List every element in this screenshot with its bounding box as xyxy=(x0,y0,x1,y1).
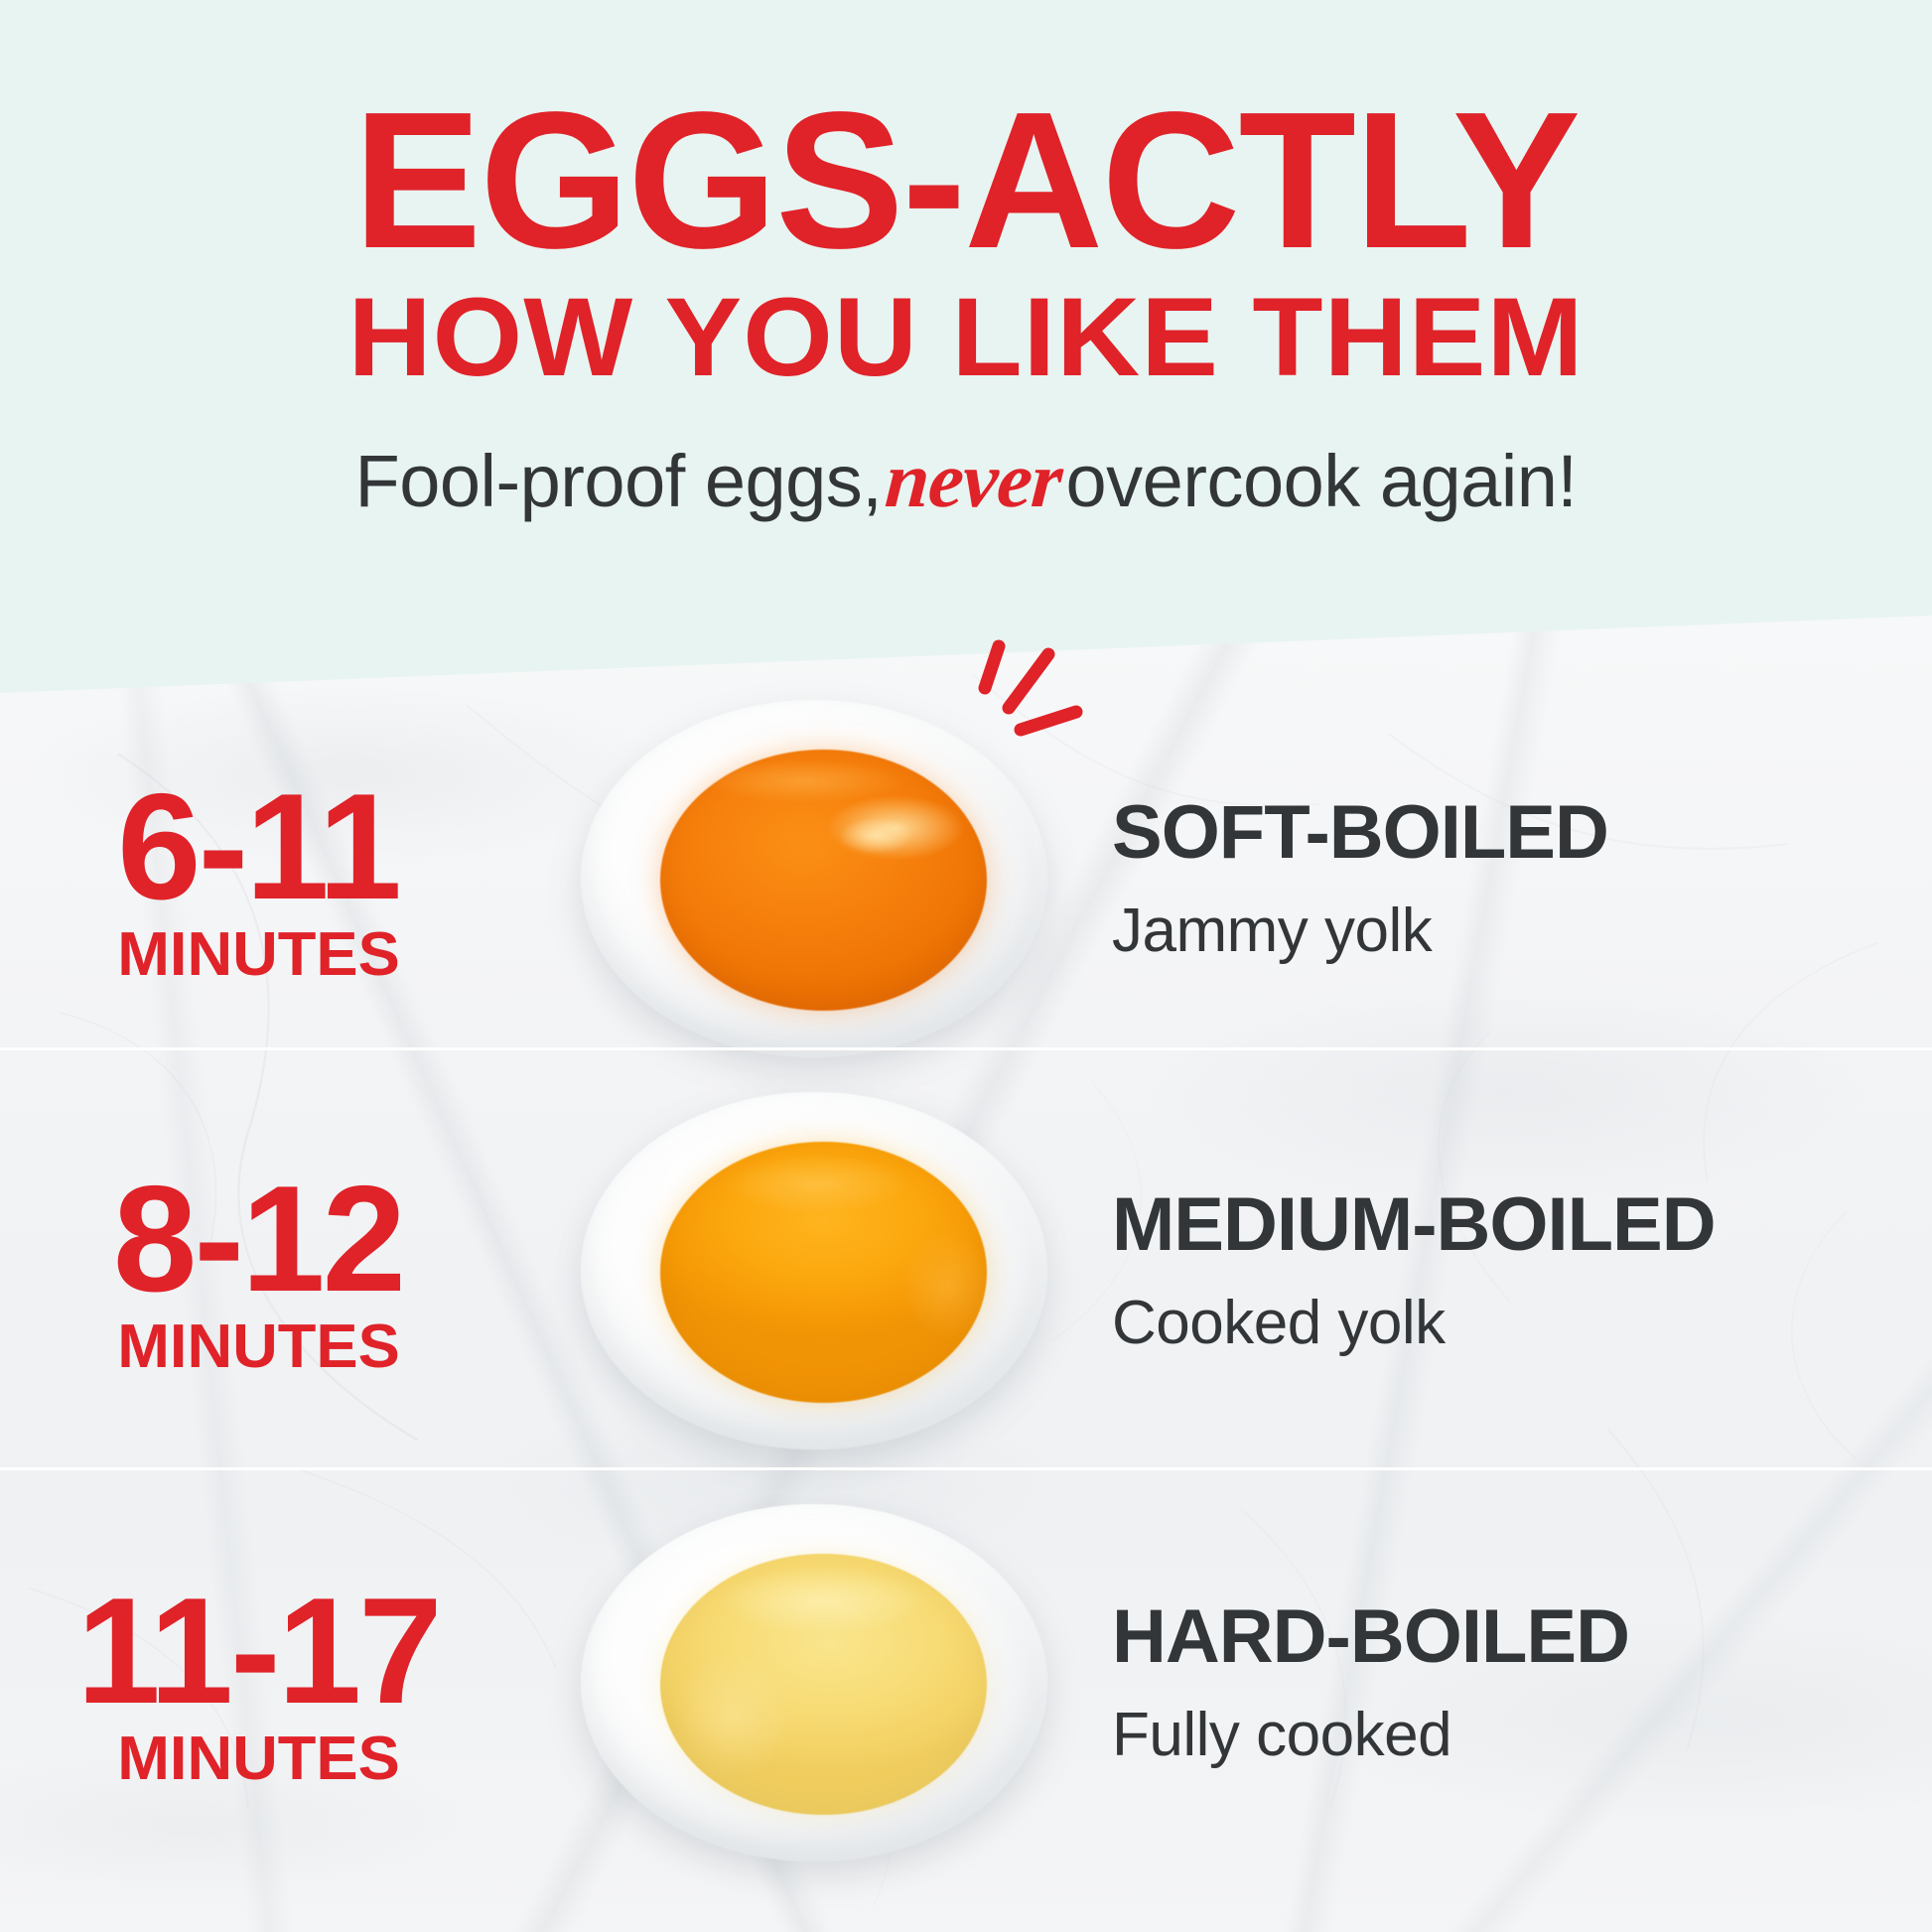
row-soft-boiled: 6-11 MINUTES SOFT-BOILED Jammy yolk xyxy=(0,685,1932,1072)
egg-image-medium-boiled xyxy=(516,1072,1112,1469)
time-unit-hard-boiled: MINUTES xyxy=(117,1728,400,1790)
egg-image-hard-boiled xyxy=(516,1469,1112,1896)
label-desc-soft-boiled: Jammy yolk xyxy=(1112,900,1906,962)
time-unit-soft-boiled: MINUTES xyxy=(117,924,400,986)
egg-yolk-hard xyxy=(660,1554,987,1815)
time-range-hard-boiled: 11-17 xyxy=(76,1576,439,1726)
row-divider-2 xyxy=(0,1467,1932,1470)
time-range-medium-boiled: 8-12 xyxy=(113,1164,403,1314)
row-divider-1 xyxy=(0,1047,1932,1050)
doneness-rows: 6-11 MINUTES SOFT-BOILED Jammy yolk 8-12… xyxy=(0,0,1932,1932)
time-column-medium-boiled: 8-12 MINUTES xyxy=(0,1072,516,1469)
label-column-hard-boiled: HARD-BOILED Fully cooked xyxy=(1112,1469,1906,1896)
egg-image-soft-boiled xyxy=(516,685,1112,1072)
time-range-soft-boiled: 6-11 xyxy=(117,771,399,922)
time-column-soft-boiled: 6-11 MINUTES xyxy=(0,685,516,1072)
medium-boiled-egg-photo xyxy=(581,1092,1047,1449)
label-desc-medium-boiled: Cooked yolk xyxy=(1112,1293,1906,1354)
label-desc-hard-boiled: Fully cooked xyxy=(1112,1705,1906,1766)
label-column-soft-boiled: SOFT-BOILED Jammy yolk xyxy=(1112,685,1906,1072)
label-title-hard-boiled: HARD-BOILED xyxy=(1112,1599,1906,1675)
time-column-hard-boiled: 11-17 MINUTES xyxy=(0,1469,516,1896)
row-hard-boiled: 11-17 MINUTES HARD-BOILED Fully cooked xyxy=(0,1469,1932,1896)
label-column-medium-boiled: MEDIUM-BOILED Cooked yolk xyxy=(1112,1072,1906,1469)
egg-yolk-medium xyxy=(660,1142,987,1403)
egg-cooking-times-infographic: EGGS-ACTLY HOW YOU LIKE THEM Fool-proof … xyxy=(0,0,1932,1932)
row-medium-boiled: 8-12 MINUTES MEDIUM-BOILED Cooked yolk xyxy=(0,1072,1932,1469)
soft-boiled-egg-photo xyxy=(581,700,1047,1057)
hard-boiled-egg-photo xyxy=(581,1504,1047,1862)
label-title-soft-boiled: SOFT-BOILED xyxy=(1112,795,1906,871)
label-title-medium-boiled: MEDIUM-BOILED xyxy=(1112,1187,1906,1263)
time-unit-medium-boiled: MINUTES xyxy=(117,1316,400,1378)
egg-yolk-soft xyxy=(660,750,987,1011)
